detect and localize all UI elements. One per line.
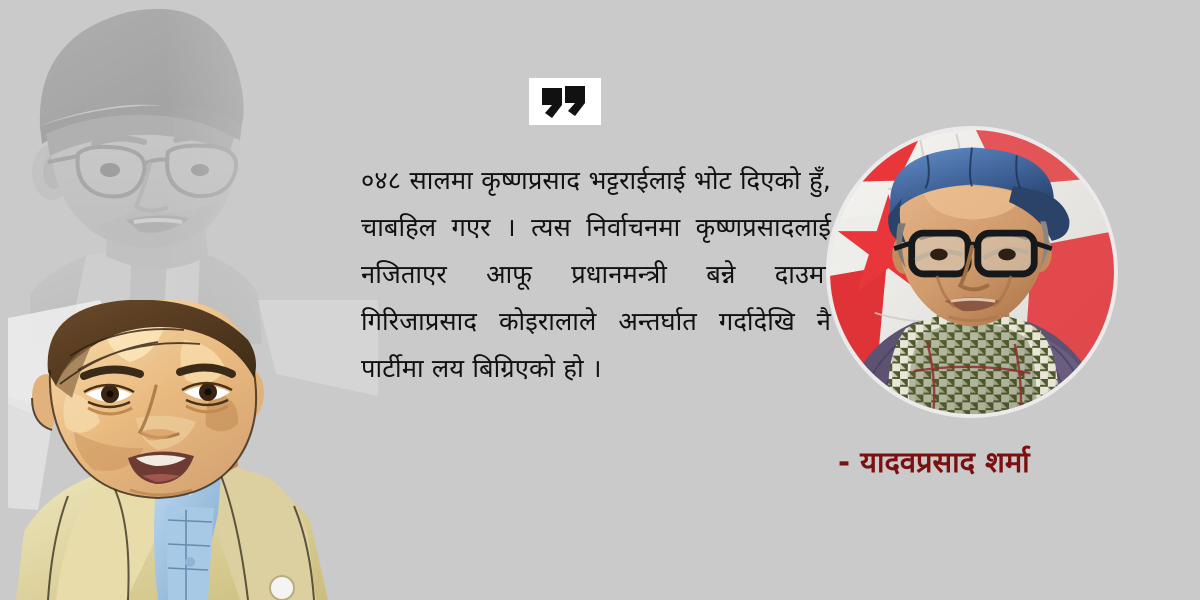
- quote-text: ०४८ सालमा कृष्णप्रसाद भट्टराईलाई भोट दिए…: [361, 158, 831, 393]
- quote-card: ०४८ सालमा कृष्णप्रसाद भट्टराईलाई भोट दिए…: [0, 0, 1200, 600]
- attribution-name: - यादवप्रसाद शर्मा: [838, 442, 1188, 481]
- double-quotation-mark-icon: [541, 85, 589, 119]
- speaker-photo: [826, 126, 1118, 418]
- foreground-illustrated-portrait: [8, 300, 378, 600]
- background-portrait-image: [0, 0, 310, 344]
- quote-mark-badge: [529, 78, 601, 125]
